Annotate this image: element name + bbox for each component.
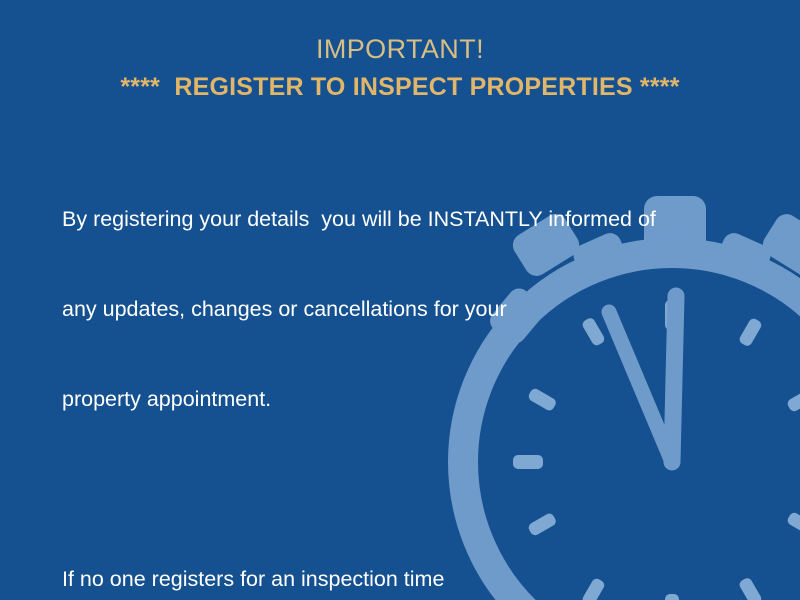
promo-slide: IMPORTANT! **** REGISTER TO INSPECT PROP… [0,0,800,600]
paragraph-registering: By registering your details you will be … [62,144,722,474]
paragraph-no-one-line-1: If no one registers for an inspection ti… [62,564,722,594]
paragraph-no-one-registers: If no one registers for an inspection ti… [62,504,722,600]
header-block: IMPORTANT! **** REGISTER TO INSPECT PROP… [0,32,800,103]
paragraph-registering-line-3: property appointment. [62,384,722,414]
paragraph-registering-line-1: By registering your details you will be … [62,204,722,234]
register-headline: **** REGISTER TO INSPECT PROPERTIES **** [0,71,800,103]
body-block: By registering your details you will be … [62,144,722,600]
page-title: IMPORTANT! [0,32,800,66]
paragraph-registering-line-2: any updates, changes or cancellations fo… [62,294,722,324]
